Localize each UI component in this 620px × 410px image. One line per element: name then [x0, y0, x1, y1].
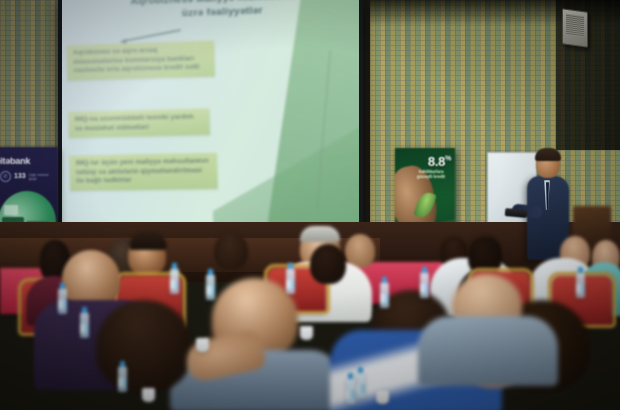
water-bottle	[118, 366, 127, 392]
banner-number: 8.8	[428, 154, 445, 169]
monitor-shape	[4, 205, 18, 215]
attendee-hair	[300, 226, 340, 242]
water-bottle	[206, 274, 215, 300]
attendee-head	[310, 244, 346, 284]
call-center-label: Çağrı mərkəzi işləyir	[29, 173, 55, 181]
water-bottle	[286, 268, 295, 294]
speaker-grill	[566, 14, 584, 38]
paper-cup	[196, 338, 209, 352]
banner-percent-symbol: %	[445, 156, 451, 163]
paper-cup	[376, 390, 389, 404]
attendee-head	[96, 300, 192, 392]
slide-bullet-2: IMQ-na uzunmüddətli texniki yardım və mə…	[68, 108, 210, 138]
bottle-label	[346, 390, 355, 399]
bottle-label	[58, 300, 67, 309]
water-bottle	[170, 268, 179, 294]
paper-cup	[142, 388, 155, 402]
bottle-label	[420, 284, 429, 293]
bottle-label	[286, 280, 295, 289]
banner-subtitle: Sahibkarlara güzəştli kredit	[411, 169, 451, 180]
wall-speaker-icon	[562, 8, 588, 48]
bottle-label	[576, 284, 585, 293]
bottle-label	[380, 294, 389, 303]
bottle-label	[80, 324, 89, 333]
paper-cup	[300, 326, 313, 340]
projection-screen: Aqrobiznesə Maliyyə Xidmətləri kom üzrə …	[62, 0, 359, 224]
water-bottle	[58, 288, 67, 314]
phone-icon: ✆	[0, 171, 11, 182]
slide-bullet-3: IMQ-lər üçün yeni maliyyə məhsullarının …	[69, 153, 217, 191]
bottle-label	[356, 384, 365, 393]
water-bottle	[80, 312, 89, 338]
call-center-number: 133	[14, 173, 26, 180]
bottle-label	[206, 286, 215, 295]
bottle-label	[118, 378, 127, 387]
bank-brand-name: abitəbank	[0, 156, 30, 166]
presentation-slide: Aqrobiznesə Maliyyə Xidmətləri kom üzrə …	[62, 0, 359, 224]
call-center-label-2: işləyir	[29, 177, 55, 181]
call-center-row: ✆ 133 Çağrı mərkəzi işləyir	[0, 171, 55, 182]
attendee-head	[214, 232, 248, 270]
attendee-body	[418, 316, 558, 386]
water-bottle	[346, 378, 355, 404]
conference-photo: Aqrobiznesə Maliyyə Xidmətləri kom üzrə …	[0, 0, 620, 410]
presenter-hair	[535, 148, 561, 161]
slide-bullet-1: Aqrobiznes və aqro-ərzaq müəssisələrinə …	[67, 41, 215, 81]
banner-subtitle-line-2: güzəştli kredit	[411, 174, 451, 179]
water-bottle	[356, 372, 365, 398]
bottle-label	[170, 280, 179, 289]
attendee-hair	[129, 232, 167, 250]
banner-headline: 8.8%	[428, 154, 451, 169]
water-bottle	[576, 272, 585, 298]
water-bottle	[380, 282, 389, 308]
water-bottle	[420, 272, 429, 298]
